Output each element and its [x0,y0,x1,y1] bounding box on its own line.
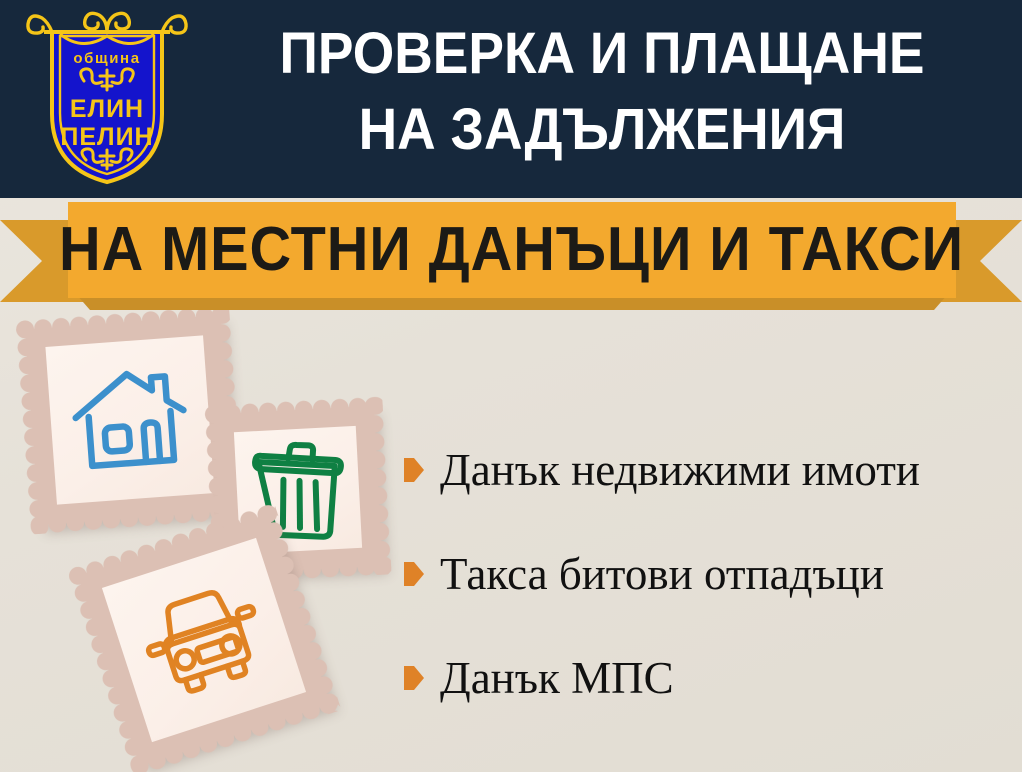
page-title-line-1: ПРОВЕРКА И ПЛАЩАНЕ [228,16,975,92]
logo-word-line2: ПЕЛИН [60,123,153,151]
municipality-logo: община ЕЛИН ПЕЛИН [22,6,192,188]
tax-type-list: Данък недвижими имоти Такса битови отпад… [404,418,1014,730]
arrow-bullet-icon [404,458,424,482]
list-item-label: Данък МПС [440,654,674,702]
list-item[interactable]: Такса битови отпадъци [404,522,1014,626]
poster-canvas: община ЕЛИН ПЕЛИН ПРОВЕРКА И ПЛ [0,0,1022,772]
house-icon [67,362,193,478]
list-item-label: Данък недвижими имоти [440,446,920,494]
header-bar: община ЕЛИН ПЕЛИН ПРОВЕРКА И ПЛ [0,0,1022,198]
subtitle-ribbon: НА МЕСТНИ ДАНЪЦИ И ТАКСИ [0,198,1022,310]
arrow-bullet-icon [404,666,424,690]
list-item[interactable]: Данък МПС [404,626,1014,730]
stamp-edge-left [15,320,49,535]
logo-word-line1: ЕЛИН [70,95,144,123]
stamp-paper-car [102,538,306,742]
stamp-card-house [25,315,235,525]
page-title-line-2: НА ЗАДЪЛЖЕНИЯ [228,92,975,168]
list-item[interactable]: Данък недвижими имоти [404,418,1014,522]
stamp-paper-house [45,335,214,504]
stamp-card-group [0,300,430,772]
list-item-label: Такса битови отпадъци [440,550,884,598]
stamp-edge-right [364,396,391,575]
ribbon-band: НА МЕСТНИ ДАНЪЦИ И ТАКСИ [68,202,956,298]
logo-word-top: община [73,50,140,67]
car-front-icon [131,574,276,706]
page-title: ПРОВЕРКА И ПЛАЩАНЕ НА ЗАДЪЛЖЕНИЯ [228,16,975,168]
ribbon-label: НА МЕСТНИ ДАНЪЦИ И ТАКСИ [60,219,965,281]
arrow-bullet-icon [404,562,424,586]
